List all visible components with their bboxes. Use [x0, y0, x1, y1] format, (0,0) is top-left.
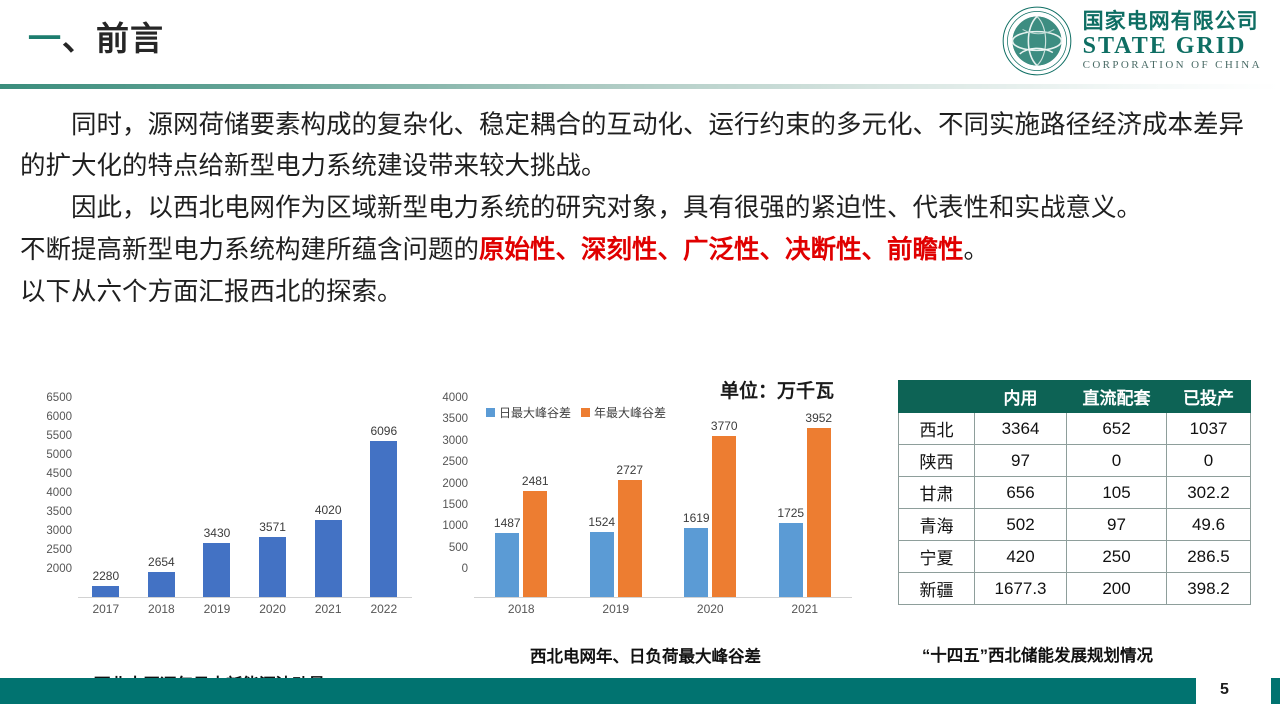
- table-cell: 502: [975, 509, 1067, 541]
- chart-2-caption: 西北电网年、日负荷最大峰谷差: [530, 643, 761, 667]
- chart-1-bar-value: 2654: [148, 555, 175, 569]
- table-cell: 200: [1067, 573, 1167, 605]
- paragraph-3: 不断提高新型电力系统构建所蕴含问题的原始性、深刻性、广泛性、决断性、前瞻性。: [20, 230, 1268, 271]
- chart-2-bar-value: 1487: [494, 516, 521, 530]
- table-header-cell: 内用: [975, 381, 1067, 413]
- chart-2-bar-value: 2481: [522, 474, 549, 488]
- table-cell: 3364: [975, 413, 1067, 445]
- chart-1-xtick: 2020: [259, 602, 286, 616]
- chart-2-legend-label: 日最大峰谷差: [499, 404, 571, 421]
- table-cell: 105: [1067, 477, 1167, 509]
- chart-1-bar-group: 4020 2021: [300, 426, 356, 597]
- table-cell: 0: [1167, 445, 1251, 477]
- logo-english-name: STATE GRID: [1083, 34, 1262, 58]
- chart-2-legend: 日最大峰谷差 年最大峰谷差: [486, 404, 666, 421]
- chart-2-bar-annual: 3770: [712, 436, 736, 597]
- paragraph-1-segment-1: 同时，源网荷储要素构成的复杂化、稳定耦合的互动化、运行约束的多元化、不同实施路径…: [20, 111, 1244, 180]
- chart-2-bar-annual: 2727: [618, 480, 642, 597]
- table-cell: 302.2: [1167, 477, 1251, 509]
- table-header-row: 内用 直流配套 已投产: [899, 381, 1251, 413]
- table-row: 甘肃 656 105 302.2: [899, 477, 1251, 509]
- table-row: 青海 502 97 49.6: [899, 509, 1251, 541]
- chart-2-ytick: 500: [449, 542, 468, 554]
- chart-2-bar-value: 2727: [616, 463, 643, 477]
- chart-2-bars: 1487 2481 2018 1524 2727 2019: [474, 426, 852, 598]
- chart-1-bar-group: 3430 2019: [189, 426, 245, 597]
- chart-1-ytick: 4000: [46, 487, 72, 499]
- table-cell: 0: [1067, 445, 1167, 477]
- chart-1-bar-group: 2654 2018: [134, 426, 190, 597]
- chart-2-ytick: 3500: [442, 413, 468, 425]
- page-number: 5: [1220, 681, 1229, 699]
- table-cell: 652: [1067, 413, 1167, 445]
- chart-1-bar-value: 3430: [204, 526, 231, 540]
- chart-2-bar-value: 1524: [588, 515, 615, 529]
- chart-1-y-axis: 6500 6000 5500 5000 4500 4000 3500 3000 …: [28, 398, 72, 598]
- chart-2-bar-group: 1619 3770 2020: [663, 426, 758, 597]
- chart-2-bar-daily: 1725: [779, 523, 803, 597]
- table-header-cell: 已投产: [1167, 381, 1251, 413]
- table-cell: 97: [1067, 509, 1167, 541]
- chart-2-plot-area: 4000 3500 3000 2500 2000 1500 1000 500 0…: [434, 398, 854, 598]
- table-row-label: 青海: [899, 509, 975, 541]
- chart-2-ytick: 1000: [442, 520, 468, 532]
- chart-2-ytick: 2500: [442, 456, 468, 468]
- chart-1-bar: 2280: [92, 586, 119, 597]
- chart-2-bar-group: 1524 2727 2019: [569, 426, 664, 597]
- table-cell: 286.5: [1167, 541, 1251, 573]
- legend-swatch-icon: [581, 408, 590, 417]
- table-row: 新疆 1677.3 200 398.2: [899, 573, 1251, 605]
- chart-2-ytick: 3000: [442, 435, 468, 447]
- state-grid-globe-icon: [1001, 5, 1073, 77]
- chart-2-bar-group: 1725 3952 2021: [758, 426, 853, 597]
- table-caption: “十四五”西北储能发展规划情况: [922, 642, 1153, 666]
- chart-2-bar-daily: 1524: [590, 532, 614, 597]
- chart-1-ytick: 6000: [46, 411, 72, 423]
- table-cell: 398.2: [1167, 573, 1251, 605]
- table-row-label: 甘肃: [899, 477, 975, 509]
- chart-1-bar-group: 3571 2020: [245, 426, 301, 597]
- chart-1-xtick: 2021: [315, 602, 342, 616]
- chart-1-ytick: 5500: [46, 430, 72, 442]
- table-cell: 49.6: [1167, 509, 1251, 541]
- chart-2-ytick: 4000: [442, 392, 468, 404]
- chart-2-ytick: 0: [462, 563, 468, 575]
- chart-1-bar: 3430: [203, 543, 230, 597]
- table-header-corner: [899, 381, 975, 413]
- logo-english-subtitle: CORPORATION OF CHINA: [1083, 60, 1262, 71]
- chart-1-ytick: 2500: [46, 544, 72, 556]
- chart-2-xtick: 2020: [697, 602, 724, 616]
- chart-1-bar-value: 2280: [92, 569, 119, 583]
- state-grid-logo: 国家电网有限公司 STATE GRID CORPORATION OF CHINA: [1001, 5, 1262, 77]
- table-cell: 97: [975, 445, 1067, 477]
- chart-1-bar-value: 4020: [315, 503, 342, 517]
- chart-1-xtick: 2019: [204, 602, 231, 616]
- table-header-cell: 直流配套: [1067, 381, 1167, 413]
- footer-bar: [0, 678, 1196, 704]
- table-storage-plan: 内用 直流配套 已投产 西北 3364 652 1037 陕西 97 0 0: [898, 380, 1250, 605]
- chart-2-bar-annual: 3952: [807, 428, 831, 597]
- chart-2-legend-item: 年最大峰谷差: [581, 404, 666, 421]
- chart-1-ytick: 3000: [46, 525, 72, 537]
- chart-peak-valley-difference: 单位：万千瓦 4000 3500 3000 2500 2000 1500 100…: [434, 370, 854, 620]
- chart-2-bar-annual: 2481: [523, 491, 547, 597]
- chart-2-bar-daily: 1619: [684, 528, 708, 597]
- chart-2-xtick: 2021: [791, 602, 818, 616]
- footer-bar-accent: [1271, 678, 1280, 704]
- page-title: 一、前言: [28, 12, 164, 60]
- chart-2-bar-group: 1487 2481 2018: [474, 426, 569, 597]
- chart-1-ytick: 6500: [46, 392, 72, 404]
- chart-2-bar-value: 1619: [683, 511, 710, 525]
- chart-2-bar-value: 1725: [777, 506, 804, 520]
- chart-2-legend-item: 日最大峰谷差: [486, 404, 571, 421]
- table-row-label: 西北: [899, 413, 975, 445]
- paragraph-3-segment-1: 不断提高新型电力系统构建所蕴含问题的: [20, 236, 479, 264]
- table-cell: 250: [1067, 541, 1167, 573]
- chart-1-bar: 6096: [370, 441, 397, 597]
- chart-2-y-axis: 4000 3500 3000 2500 2000 1500 1000 500 0: [434, 398, 468, 598]
- chart-1-ytick: 5000: [46, 449, 72, 461]
- header-divider: [0, 84, 1280, 89]
- table-row: 宁夏 420 250 286.5: [899, 541, 1251, 573]
- chart-1-ytick: 4500: [46, 468, 72, 480]
- chart-1-xtick: 2017: [92, 602, 119, 616]
- storage-plan-table: 内用 直流配套 已投产 西北 3364 652 1037 陕西 97 0 0: [898, 380, 1251, 605]
- legend-swatch-icon: [486, 408, 495, 417]
- chart-2-bar-value: 3952: [805, 411, 832, 425]
- slide-header: 一、前言 国家电网有限公司 STATE GRID CORPORATION OF …: [0, 0, 1280, 90]
- chart-1-xtick: 2022: [370, 602, 397, 616]
- chart-1-bar: 4020: [315, 520, 342, 597]
- chart-2-bar-daily: 1487: [495, 533, 519, 597]
- chart-newenergy-fluctuation: 6500 6000 5500 5000 4500 4000 3500 3000 …: [28, 398, 418, 618]
- figures-row: 6500 6000 5500 5000 4500 4000 3500 3000 …: [0, 360, 1280, 660]
- paragraph-2-segment-1: 因此，以西北电网作为区域新型电力系统的研究对象，具有很强的紧迫性、代表性和实战意…: [71, 194, 1142, 222]
- paragraph-4-segment-1: 以下从六个方面汇报西北的探索。: [20, 278, 403, 306]
- table-row-label: 新疆: [899, 573, 975, 605]
- table-cell: 420: [975, 541, 1067, 573]
- paragraph-4: 以下从六个方面汇报西北的探索。: [20, 272, 1268, 313]
- table-cell: 656: [975, 477, 1067, 509]
- chart-1-bar-value: 3571: [259, 520, 286, 534]
- chart-1-bar-value: 6096: [370, 424, 397, 438]
- chart-1-bar: 2654: [148, 572, 175, 597]
- paragraph-1: 同时，源网荷储要素构成的复杂化、稳定耦合的互动化、运行约束的多元化、不同实施路径…: [20, 105, 1268, 187]
- table-row-label: 陕西: [899, 445, 975, 477]
- chart-2-xtick: 2019: [602, 602, 629, 616]
- chart-1-ytick: 2000: [46, 563, 72, 575]
- chart-1-xtick: 2018: [148, 602, 175, 616]
- chart-2-bar-value: 3770: [711, 419, 738, 433]
- table-cell: 1677.3: [975, 573, 1067, 605]
- paragraph-2: 因此，以西北电网作为区域新型电力系统的研究对象，具有很强的紧迫性、代表性和实战意…: [20, 188, 1268, 229]
- chart-1-bars: 2280 2017 2654 2018 3430 2019: [78, 426, 412, 598]
- chart-2-ytick: 1500: [442, 499, 468, 511]
- page-title-number: 一: [28, 20, 62, 57]
- chart-1-bar-group: 2280 2017: [78, 426, 134, 597]
- table-row: 西北 3364 652 1037: [899, 413, 1251, 445]
- chart-2-legend-label: 年最大峰谷差: [594, 404, 666, 421]
- page-title-text: 、前言: [62, 20, 164, 57]
- table-row-label: 宁夏: [899, 541, 975, 573]
- table-row: 陕西 97 0 0: [899, 445, 1251, 477]
- chart-1-plot-area: 6500 6000 5500 5000 4500 4000 3500 3000 …: [28, 398, 418, 598]
- chart-1-bar-group: 6096 2022: [356, 426, 412, 597]
- table-cell: 1037: [1167, 413, 1251, 445]
- body-text-block: 同时，源网荷储要素构成的复杂化、稳定耦合的互动化、运行约束的多元化、不同实施路径…: [20, 105, 1268, 314]
- chart-1-ytick: 3500: [46, 506, 72, 518]
- chart-2-ytick: 2000: [442, 478, 468, 490]
- chart-2-xtick: 2018: [508, 602, 535, 616]
- chart-1-bar: 3571: [259, 537, 286, 597]
- logo-chinese-name: 国家电网有限公司: [1083, 11, 1262, 32]
- paragraph-3-highlight: 原始性、深刻性、广泛性、决断性、前瞻性: [479, 236, 964, 264]
- paragraph-3-segment-3: 。: [964, 236, 990, 264]
